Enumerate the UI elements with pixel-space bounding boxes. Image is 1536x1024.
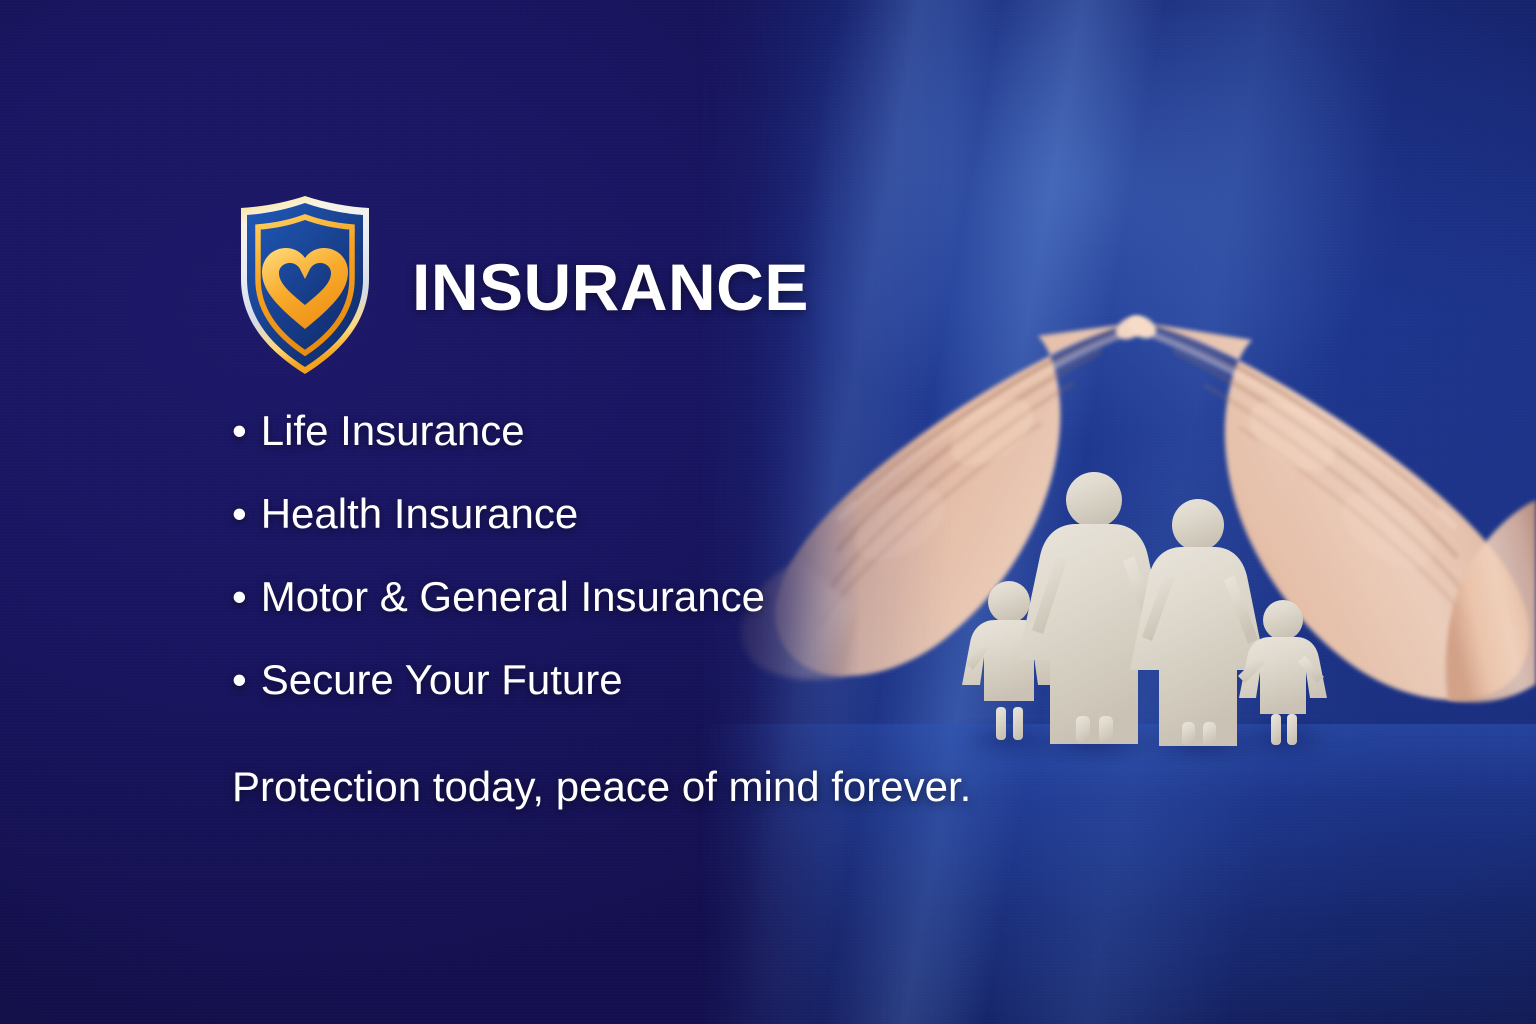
content-column: INSURANCE • Life Insurance • Health Insu… (232, 190, 1052, 808)
page-title: INSURANCE (412, 254, 809, 320)
list-item-label: Health Insurance (261, 493, 579, 535)
list-item-label: Motor & General Insurance (261, 576, 765, 618)
bullet-marker-icon: • (232, 410, 247, 452)
list-item-secure-your-future: • Secure Your Future (232, 659, 1052, 742)
list-item-label: Secure Your Future (261, 659, 623, 701)
list-item-motor-general-insurance: • Motor & General Insurance (232, 576, 1052, 659)
list-item-label: Life Insurance (261, 410, 525, 452)
insurance-banner: INSURANCE • Life Insurance • Health Insu… (0, 0, 1536, 1024)
services-list: • Life Insurance • Health Insurance • Mo… (232, 410, 1052, 742)
shield-heart-icon (232, 193, 378, 377)
brand-header: INSURANCE (232, 190, 1052, 380)
bullet-marker-icon: • (232, 576, 247, 618)
bullet-marker-icon: • (232, 659, 247, 701)
list-item-health-insurance: • Health Insurance (232, 493, 1052, 576)
tagline: Protection today, peace of mind forever. (232, 766, 1052, 808)
bullet-marker-icon: • (232, 493, 247, 535)
list-item-life-insurance: • Life Insurance (232, 410, 1052, 493)
